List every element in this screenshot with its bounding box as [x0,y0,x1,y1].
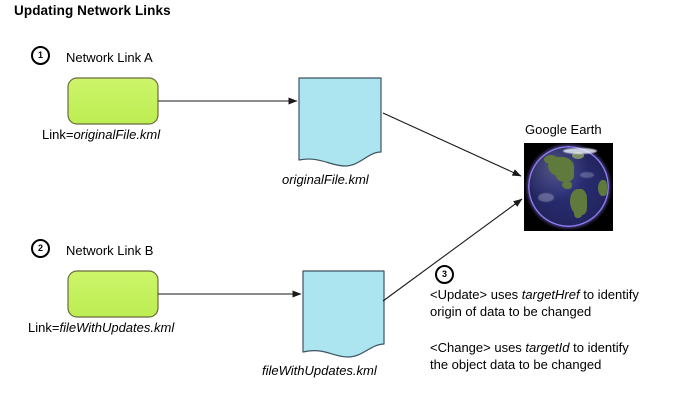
network-link-b-title: Network Link B [66,243,153,259]
diagram-canvas: Updating Network Links 1 Netw [0,0,688,411]
arrow-original-file-to-google-earth [383,113,521,176]
note-line-1-emphasis: targetHref [522,287,580,302]
google-earth-label: Google Earth [525,122,602,138]
step-number-2: 2 [31,239,50,258]
note-line-3: <Change> uses targetId to identify [430,340,629,356]
globe-sphere [528,146,609,227]
link-b-value: fileWithUpdates.kml [59,320,174,335]
document-label-file-with-updates: fileWithUpdates.kml [262,363,377,379]
step-number-3: 3 [435,265,454,284]
network-link-b-link-label: Link=fileWithUpdates.kml [28,320,174,336]
note-line-2-pre: origin of data to be changed [430,304,591,319]
note-line-1: <Update> uses targetHref to identify [430,287,639,303]
note-line-1-post: to identify [580,287,639,302]
document-shape-original-file [299,78,381,166]
document-label-original-file: originalFile.kml [282,172,369,188]
note-line-4-pre: the object data to be changed [430,357,601,372]
network-link-a-box [68,78,158,124]
document-shape-file-with-updates [303,271,384,357]
link-a-value: originalFile.kml [73,127,160,142]
note-line-2: origin of data to be changed [430,304,591,320]
network-link-a-link-label: Link=originalFile.kml [42,127,160,143]
note-line-3-pre: <Change> uses [430,340,525,355]
note-line-1-pre: <Update> uses [430,287,522,302]
google-earth-globe-icon [524,143,613,231]
arrow-file-with-updates-to-google-earth [383,199,522,301]
note-line-4: the object data to be changed [430,357,601,373]
network-link-b-box [68,271,158,317]
network-link-a-title: Network Link A [66,50,153,66]
note-line-3-emphasis: targetId [525,340,569,355]
step-number-1: 1 [31,46,50,65]
note-line-3-post: to identify [570,340,629,355]
link-a-prefix: Link= [42,127,73,142]
link-b-prefix: Link= [28,320,59,335]
